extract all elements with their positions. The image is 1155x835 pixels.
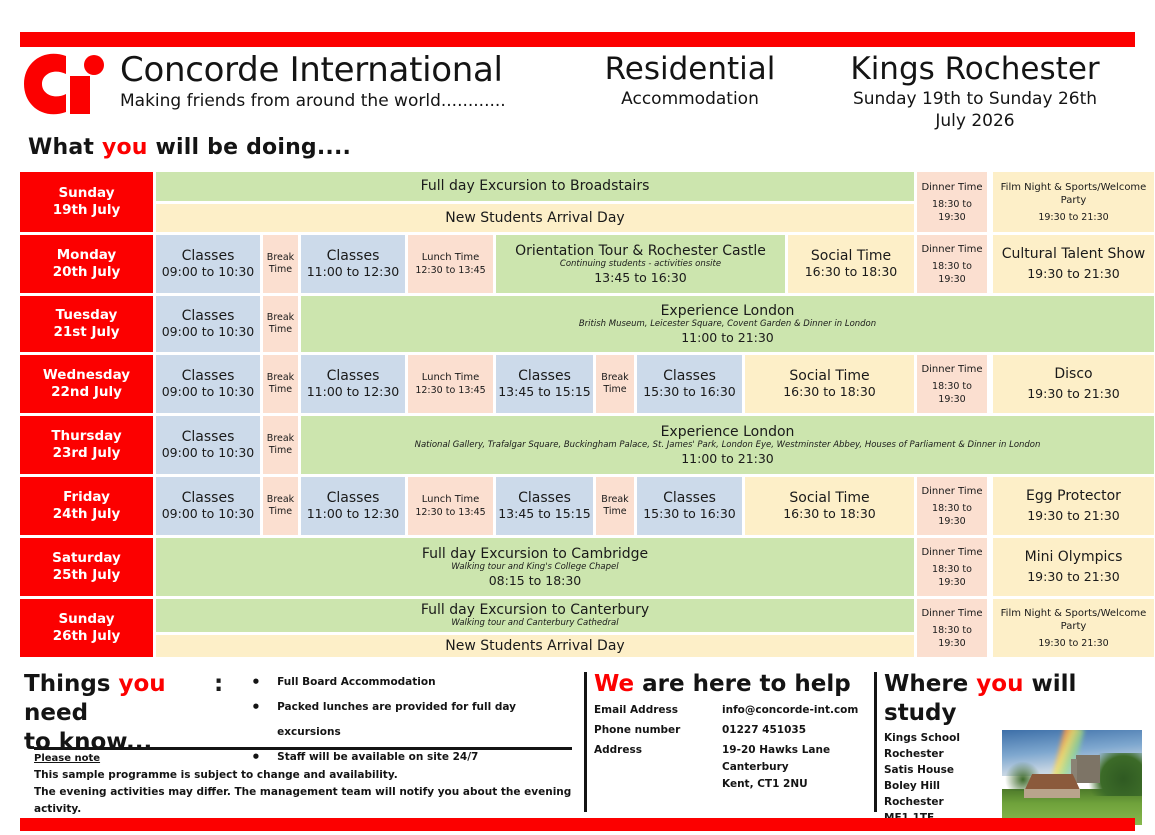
day-date: 26th July [53,628,121,645]
activity-cell[interactable]: BreakTime [263,477,298,535]
activity-cell[interactable]: Full day Excursion to Broadstairs [156,172,914,201]
dinner-time: 18:30 to 19:30 [919,260,985,286]
activity-title: Social Time [789,368,869,384]
day-name: Tuesday [56,307,118,324]
panel-divider-right [874,672,877,812]
activity-title: Classes [182,490,235,506]
activity-strip: New Students Arrival Day [156,635,914,657]
need-to-know-title: Things you need [24,670,208,728]
schedule-row: Friday24th JulyClasses09:00 to 10:30Brea… [20,477,1154,535]
activity-title: Full day Excursion to Cambridge [422,546,648,562]
activity-title: Time [269,506,292,518]
activity-cell[interactable]: BreakTime [596,355,634,413]
day-label-cell: Friday24th July [20,477,153,535]
evening-activity-time: 19:30 to 21:30 [1027,569,1120,585]
activity-time: 08:15 to 18:30 [489,573,582,589]
contact-value[interactable]: info@concorde-int.com [722,702,858,719]
schedule-row: Tuesday21st JulyClasses09:00 to 10:30Bre… [20,296,1154,352]
row-activities: Classes09:00 to 10:30BreakTimeClasses11:… [156,355,914,413]
row-activities: Full day Excursion to CanterburyWalking … [156,599,914,657]
contact-value-line: Canterbury [722,759,830,776]
centre-dates-line2: July 2026 [810,110,1140,132]
evening-activity-title: Egg Protector [1026,488,1121,504]
contact-row: Phone number01227 451035 [594,722,874,739]
row-activities: Classes09:00 to 10:30BreakTimeClasses11:… [156,235,914,293]
day-date: 20th July [53,264,121,281]
dinner-time: 18:30 to 19:30 [919,563,985,589]
activity-strip: Full day Excursion to CambridgeWalking t… [156,538,914,596]
activity-title: Classes [182,429,235,445]
activity-cell[interactable]: Social Time16:30 to 18:30 [745,477,914,535]
contact-label: Address [594,742,722,793]
activity-title: New Students Arrival Day [445,638,624,654]
activity-title: Experience London [661,424,795,440]
activity-title: Orientation Tour & Rochester Castle [515,243,766,259]
activity-title: Break [267,252,294,264]
contact-value[interactable]: 19-20 Hawks LaneCanterburyKent, CT1 2NU [722,742,830,793]
programme-page: Concorde International Making friends fr… [0,0,1155,831]
contact-value[interactable]: 01227 451035 [722,722,806,739]
activity-title: Classes [663,368,716,384]
row-activities: Full day Excursion to BroadstairsNew Stu… [156,172,914,232]
activity-cell[interactable]: Classes09:00 to 10:30 [156,235,260,293]
activity-title: Experience London [661,303,795,319]
activity-title: Lunch Time [422,251,480,264]
activity-cell[interactable]: Lunch Time12:30 to 13:45 [408,235,493,293]
need-title-accent: you [118,671,165,697]
activity-time: 12:30 to 13:45 [415,264,485,277]
activity-time: 16:30 to 18:30 [805,264,898,280]
evening-activity-cell[interactable]: Disco19:30 to 21:30 [993,355,1154,413]
day-date: 23rd July [53,445,121,462]
centre-dates-line1: Sunday 19th to Sunday 26th [810,88,1140,110]
activity-cell[interactable]: Classes15:30 to 16:30 [637,477,742,535]
centre-block: Kings Rochester Sunday 19th to Sunday 26… [810,50,1140,132]
evening-activity-cell[interactable]: Egg Protector19:30 to 21:30 [993,477,1154,535]
activity-title: Break [267,494,294,506]
activity-strip: Classes09:00 to 10:30BreakTimeExperience… [156,296,1154,352]
schedule-row: Sunday26th JulyFull day Excursion to Can… [20,599,1154,657]
activity-time: 12:30 to 13:45 [415,506,485,519]
schedule-row: Wednesday22nd JulyClasses09:00 to 10:30B… [20,355,1154,413]
day-name: Sunday [58,611,114,628]
dinner-title: Dinner Time [921,607,982,620]
dinner-time: 18:30 to 19:30 [919,502,985,528]
study-title: Where you will study [884,670,1154,728]
page-header: Concorde International Making friends fr… [20,50,1135,135]
dinner-time: 18:30 to 19:30 [919,624,985,650]
day-name: Saturday [52,550,121,567]
activity-time: 13:45 to 15:15 [498,506,591,522]
centre-title: Kings Rochester [810,50,1140,88]
evening-activity-time: 19:30 to 21:30 [1038,637,1108,650]
activity-time: 13:45 to 15:15 [498,384,591,400]
schedule-row: Thursday23rd JulyClasses09:00 to 10:30Br… [20,416,1154,474]
dinner-title: Dinner Time [921,485,982,498]
activity-title: Classes [182,368,235,384]
activity-time: 11:00 to 12:30 [307,264,400,280]
day-date: 19th July [53,202,121,219]
activity-cell[interactable]: Full day Excursion to CambridgeWalking t… [156,538,914,596]
contact-label: Phone number [594,722,722,739]
page-title-pre: What [28,135,102,160]
dinner-cell[interactable]: Dinner Time18:30 to 19:30 [917,477,987,535]
need-to-know-item: Full Board Accommodation [251,670,576,695]
day-label-cell: Saturday25th July [20,538,153,596]
help-rows: Email Addressinfo@concorde-int.comPhone … [594,702,874,793]
study-title-accent: you [976,671,1023,697]
activity-strip: New Students Arrival Day [156,204,914,233]
rochester-castle-photo [1002,730,1142,825]
activity-strip: Full day Excursion to Broadstairs [156,172,914,201]
study-address: Kings School RochesterSatis HouseBoley H… [884,730,1002,826]
evening-activity-time: 19:30 to 21:30 [1027,508,1120,524]
panel-divider-left [584,672,587,812]
top-red-bar [20,32,1135,47]
activity-cell[interactable]: Classes09:00 to 10:30 [156,416,260,474]
dinner-title: Dinner Time [921,181,982,194]
activity-cell[interactable]: Classes15:30 to 16:30 [637,355,742,413]
contact-value-line: 19-20 Hawks Lane [722,742,830,759]
day-date: 25th July [53,567,121,584]
activity-cell[interactable]: Social Time16:30 to 18:30 [788,235,914,293]
schedule-row: Monday20th JulyClasses09:00 to 10:30Brea… [20,235,1154,293]
row-activities: Full day Excursion to CambridgeWalking t… [156,538,914,596]
evening-activity-title: Film Night & Sports/Welcome Party [995,181,1152,207]
dinner-time: 18:30 to 19:30 [919,198,985,224]
row-activities: Classes09:00 to 10:30BreakTimeExperience… [156,416,1154,474]
contact-label: Email Address [594,702,722,719]
activity-cell[interactable]: New Students Arrival Day [156,204,914,233]
activity-time: 09:00 to 10:30 [162,445,255,461]
need-to-know-panel: Things you need to know... : Full Board … [24,670,576,770]
activity-cell[interactable]: Social Time16:30 to 18:30 [745,355,914,413]
activity-cell[interactable]: New Students Arrival Day [156,635,914,657]
activity-title: Time [269,324,292,336]
need-title-post: need [24,700,88,726]
evening-activity-cell[interactable]: Mini Olympics19:30 to 21:30 [993,538,1154,596]
please-note-heading: Please note [34,750,579,767]
activity-cell[interactable]: Classes11:00 to 12:30 [301,477,405,535]
page-title-post: will be doing.... [148,135,351,160]
brand-title: Concorde International [120,50,550,90]
help-title-accent: We [594,671,634,697]
activity-title: Break [601,372,628,384]
study-address-line: Boley Hill [884,778,1002,794]
schedule-row: Saturday25th JulyFull day Excursion to C… [20,538,1154,596]
dinner-cell[interactable]: Dinner Time18:30 to 19:30 [917,538,987,596]
activity-title: Classes [518,490,571,506]
brand-tagline: Making friends from around the world....… [120,90,550,112]
study-panel: Where you will study Kings School Roches… [884,670,1154,826]
day-name: Thursday [51,428,121,445]
activity-subtitle: Continuing students - activities onsite [560,259,721,270]
activity-time: 16:30 to 18:30 [783,506,876,522]
activity-time: 15:30 to 16:30 [643,384,736,400]
activity-cell[interactable]: Classes09:00 to 10:30 [156,296,260,352]
study-address-line: Satis House [884,762,1002,778]
need-to-know-item: Packed lunches are provided for full day… [251,695,576,745]
need-title-pre: Things [24,671,118,697]
evening-activity-title: Mini Olympics [1025,549,1123,565]
activity-strip: Classes09:00 to 10:30BreakTimeClasses11:… [156,235,914,293]
day-date: 22nd July [51,384,122,401]
activity-cell[interactable]: Orientation Tour & Rochester CastleConti… [496,235,785,293]
day-label-cell: Tuesday21st July [20,296,153,352]
page-title-accent: you [102,135,148,160]
schedule-table: Sunday19th JulyFull day Excursion to Bro… [20,172,1154,660]
dinner-cell[interactable]: Dinner Time18:30 to 19:30 [917,235,987,293]
brand-block: Concorde International Making friends fr… [120,50,550,112]
evening-activity-title: Cultural Talent Show [1002,246,1145,262]
activity-subtitle: British Museum, Leicester Square, Covent… [579,319,876,330]
activity-subtitle: Walking tour and Canterbury Cathedral [451,618,618,629]
footer-panels: Things you need to know... : Full Board … [14,670,1144,815]
activity-time: 11:00 to 21:30 [681,330,774,346]
activity-cell[interactable]: Classes13:45 to 15:15 [496,477,593,535]
activity-title: Classes [182,308,235,324]
bottom-red-bar [20,818,1135,831]
study-address-line: Rochester [884,794,1002,810]
activity-title: Lunch Time [422,371,480,384]
activity-cell[interactable]: Lunch Time12:30 to 13:45 [408,355,493,413]
activity-title: Time [603,506,626,518]
activity-title: New Students Arrival Day [445,210,624,226]
dinner-title: Dinner Time [921,546,982,559]
activity-cell[interactable]: Classes13:45 to 15:15 [496,355,593,413]
day-name: Sunday [58,185,114,202]
day-label-cell: Thursday23rd July [20,416,153,474]
activity-title: Lunch Time [422,493,480,506]
activity-time: 11:00 to 12:30 [307,506,400,522]
activity-cell[interactable]: BreakTime [263,235,298,293]
activity-time: 16:30 to 18:30 [783,384,876,400]
evening-activity-time: 19:30 to 21:30 [1038,211,1108,224]
help-panel: We are here to help Email Addressinfo@co… [594,670,874,793]
activity-title: Classes [327,490,380,506]
day-date: 24th July [53,506,121,523]
evening-activity-time: 19:30 to 21:30 [1027,386,1120,402]
activity-cell[interactable]: Experience LondonNational Gallery, Trafa… [301,416,1154,474]
activity-cell[interactable]: BreakTime [263,296,298,352]
activity-title: Full day Excursion to Canterbury [421,602,649,618]
activity-subtitle: Walking tour and King's College Chapel [451,562,618,573]
activity-time: 15:30 to 16:30 [643,506,736,522]
activity-title: Break [267,433,294,445]
activity-title: Break [267,312,294,324]
note-line: The evening activities may differ. The m… [34,784,579,818]
help-title-post: are here to help [634,671,851,697]
activity-strip: Full day Excursion to CanterburyWalking … [156,599,914,632]
evening-activity-title: Disco [1054,366,1092,382]
activity-time: 09:00 to 10:30 [162,506,255,522]
activity-title: Social Time [789,490,869,506]
contact-row: Email Addressinfo@concorde-int.com [594,702,874,719]
activity-cell[interactable]: Classes11:00 to 12:30 [301,235,405,293]
activity-time: 13:45 to 16:30 [594,270,687,286]
day-name: Monday [57,247,116,264]
day-label-cell: Sunday26th July [20,599,153,657]
activity-cell[interactable]: BreakTime [596,477,634,535]
dinner-cell[interactable]: Dinner Time18:30 to 19:30 [917,599,987,657]
activity-cell[interactable]: Classes11:00 to 12:30 [301,355,405,413]
activity-cell[interactable]: Experience LondonBritish Museum, Leicest… [301,296,1154,352]
activity-strip: Classes09:00 to 10:30BreakTimeClasses11:… [156,355,914,413]
row-activities: Classes09:00 to 10:30BreakTimeClasses11:… [156,477,914,535]
activity-title: Social Time [811,248,891,264]
contact-row: Address19-20 Hawks LaneCanterburyKent, C… [594,742,874,793]
dinner-title: Dinner Time [921,243,982,256]
day-label-cell: Sunday19th July [20,172,153,232]
day-label-cell: Monday20th July [20,235,153,293]
contact-value-line: Kent, CT1 2NU [722,776,830,793]
activity-title: Classes [518,368,571,384]
evening-activity-cell[interactable]: Film Night & Sports/Welcome Party19:30 t… [993,172,1154,232]
day-name: Friday [63,489,110,506]
evening-activity-cell[interactable]: Film Night & Sports/Welcome Party19:30 t… [993,599,1154,657]
activity-title: Time [269,384,292,396]
activity-time: 11:00 to 21:30 [681,451,774,467]
row-activities: Classes09:00 to 10:30BreakTimeExperience… [156,296,1154,352]
activity-title: Classes [327,368,380,384]
note-line: This sample programme is subject to chan… [34,767,579,784]
residential-block: Residential Accommodation [565,50,815,110]
activity-title: Time [603,384,626,396]
day-name: Wednesday [43,367,130,384]
concorde-logo-icon [20,50,108,118]
activity-time: 09:00 to 10:30 [162,384,255,400]
page-title: What you will be doing.... [28,135,351,160]
evening-activity-title: Film Night & Sports/Welcome Party [995,607,1152,633]
activity-strip: Classes09:00 to 10:30BreakTimeExperience… [156,416,1154,474]
residential-title: Residential [565,50,815,88]
activity-time: 12:30 to 13:45 [415,384,485,397]
activity-title: Classes [663,490,716,506]
activity-cell[interactable]: Classes09:00 to 10:30 [156,477,260,535]
activity-time: 09:00 to 10:30 [162,324,255,340]
activity-subtitle: National Gallery, Trafalgar Square, Buck… [415,440,1041,451]
activity-title: Break [267,372,294,384]
activity-cell[interactable]: Lunch Time12:30 to 13:45 [408,477,493,535]
activity-cell[interactable]: BreakTime [263,416,298,474]
activity-time: 11:00 to 12:30 [307,384,400,400]
activity-time: 09:00 to 10:30 [162,264,255,280]
activity-title: Time [269,264,292,276]
activity-cell[interactable]: Classes09:00 to 10:30 [156,355,260,413]
residential-subtitle: Accommodation [565,88,815,110]
activity-strip: Classes09:00 to 10:30BreakTimeClasses11:… [156,477,914,535]
activity-title: Full day Excursion to Broadstairs [421,178,650,194]
dinner-cell[interactable]: Dinner Time18:30 to 19:30 [917,355,987,413]
dinner-cell[interactable]: Dinner Time18:30 to 19:30 [917,172,987,232]
schedule-row: Sunday19th JulyFull day Excursion to Bro… [20,172,1154,232]
dinner-time: 18:30 to 19:30 [919,380,985,406]
activity-cell[interactable]: Full day Excursion to CanterburyWalking … [156,599,914,632]
study-title-pre: Where [884,671,976,697]
evening-activity-time: 19:30 to 21:30 [1027,266,1120,282]
activity-cell[interactable]: BreakTime [263,355,298,413]
activity-title: Time [269,445,292,457]
activity-title: Classes [182,248,235,264]
activity-title: Classes [327,248,380,264]
day-date: 21st July [53,324,119,341]
study-address-line: Kings School Rochester [884,730,1002,762]
activity-title: Break [601,494,628,506]
dinner-title: Dinner Time [921,363,982,376]
evening-activity-cell[interactable]: Cultural Talent Show19:30 to 21:30 [993,235,1154,293]
day-label-cell: Wednesday22nd July [20,355,153,413]
help-title: We are here to help [594,670,874,699]
